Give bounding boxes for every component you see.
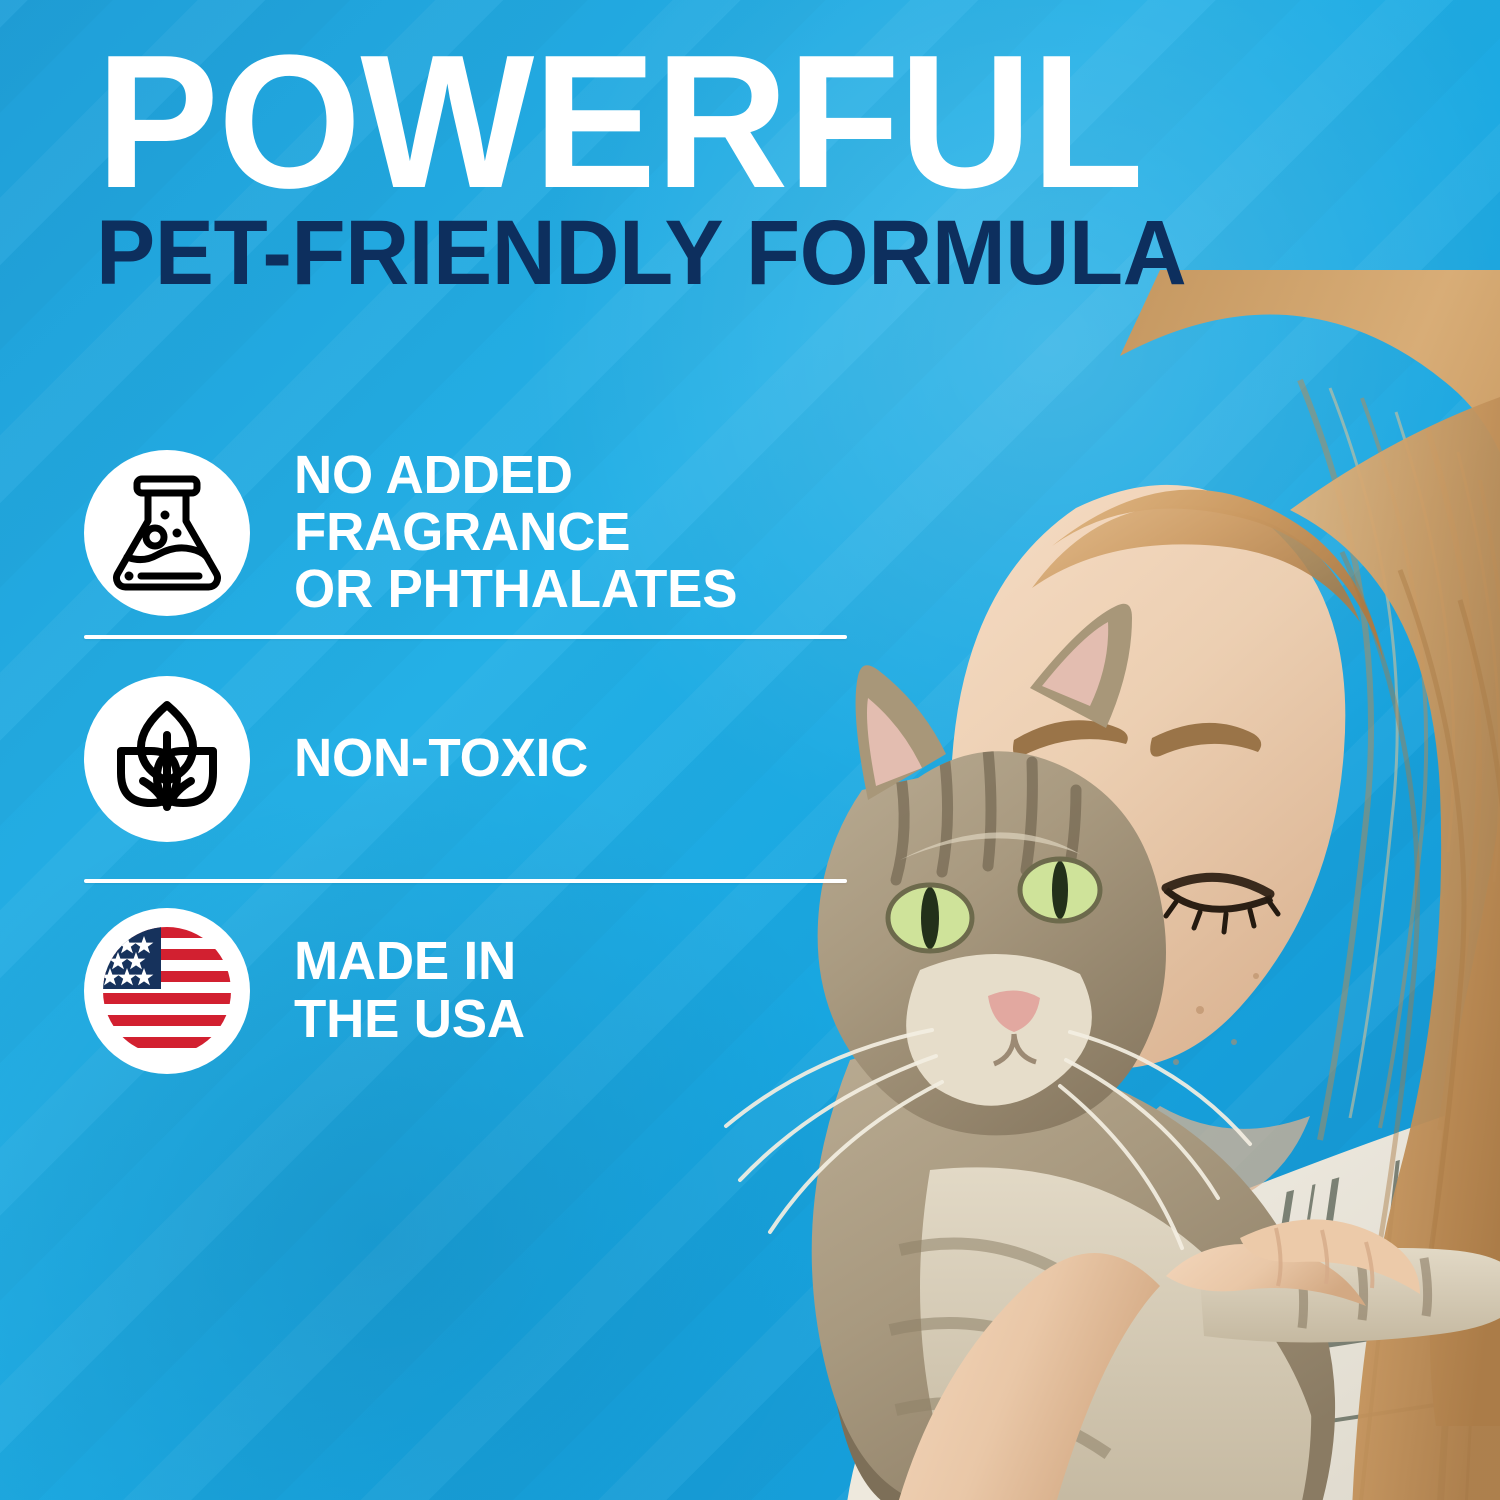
feature-icon-slot [82,450,252,616]
feature-label: NO ADDED FRAGRANCE OR PHTHALATES [294,447,737,619]
usa-flag-icon [92,916,242,1066]
headline-block: POWERFUL PET-FRIENDLY FORMULA [96,46,1226,291]
icon-circle [84,450,250,616]
feature-made-in-usa: MADE IN THE USA [82,883,872,1098]
headline-primary: POWERFUL [96,46,1192,198]
feature-icon-slot [82,676,252,842]
feature-icon-slot [82,908,252,1074]
icon-circle [84,676,250,842]
feature-label: NON-TOXIC [294,730,588,787]
feature-list: NO ADDED FRAGRANCE OR PHTHALATES [82,430,872,1098]
icon-circle [84,908,250,1074]
feature-label: MADE IN THE USA [294,933,525,1047]
headline-secondary: PET-FRIENDLY FORMULA [96,216,1186,291]
feature-no-added-fragrance: NO ADDED FRAGRANCE OR PHTHALATES [82,430,872,635]
feature-non-toxic: NON-TOXIC [82,639,872,879]
flask-icon [108,471,226,595]
leaf-plant-icon [107,697,227,821]
marketing-banner: POWERFUL PET-FRIENDLY FORMULA [0,0,1500,1500]
